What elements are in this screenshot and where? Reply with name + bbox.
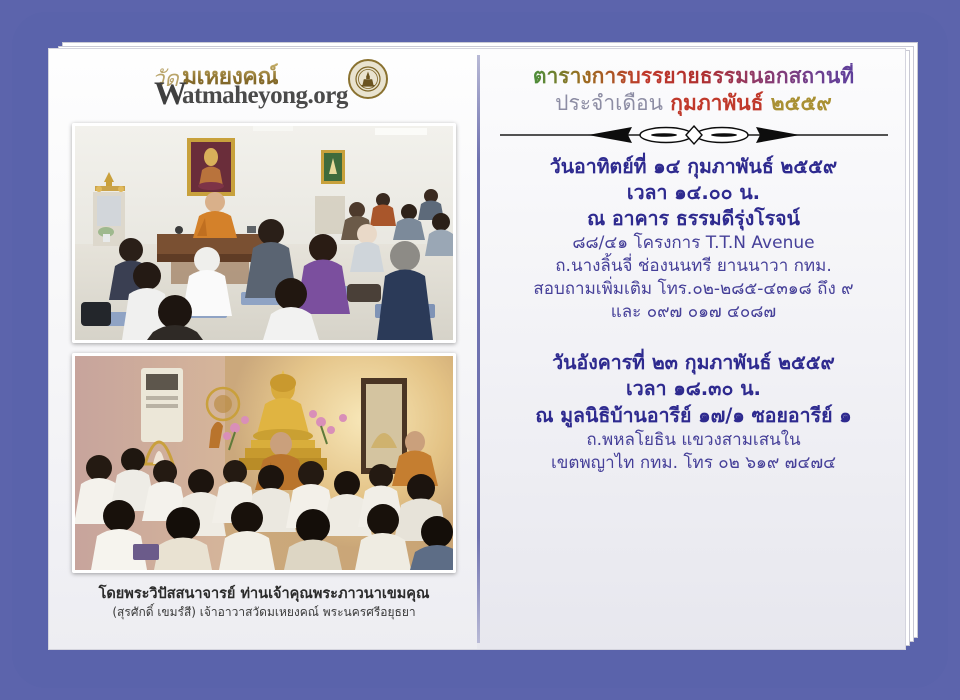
caption-teacher-detail: (สุรศักดิ์ เขมรํสี) เจ้าอาวาสวัดมเหยงคณ์… bbox=[61, 605, 467, 621]
watmaheyong-logo[interactable]: วัด มเหยงคณ์ W atmaheyong.org bbox=[152, 59, 412, 117]
event-contact-line2: และ ๐๙๗ ๐๑๗ ๔๐๘๗ bbox=[492, 301, 895, 324]
event-address-line2: เขตพญาไท กทม. โทร ๐๒ ๖๑๙ ๗๔๗๔ bbox=[492, 452, 895, 475]
page-title: ตารางการบรรยายธรรมนอกสถานที่ bbox=[492, 63, 895, 89]
event-date: วันอังคารที่ ๒๓ กุมภาพันธ์ ๒๕๕๙ bbox=[492, 350, 895, 376]
event-contact-line1: สอบถามเพิ่มเติม โทร.๐๒-๒๘๕-๔๓๑๘ ถึง ๙ bbox=[492, 278, 895, 301]
event-venue: ณ อาคาร ธรรมดีรุ่งโรจน์ bbox=[492, 206, 895, 232]
logo-website-url: atmaheyong.org bbox=[182, 83, 348, 108]
arrow-leaf-divider-icon bbox=[492, 122, 895, 148]
poster-card: วัด มเหยงคณ์ W atmaheyong.org bbox=[48, 48, 906, 650]
dhamma-talk-meditation-hall-photo bbox=[72, 123, 456, 343]
temple-ceremony-golden-buddha-photo bbox=[72, 353, 456, 573]
temple-stupa-seal-icon bbox=[348, 59, 388, 99]
subtitle-prefix: ประจำเดือน bbox=[555, 91, 663, 115]
event-date: วันอาทิตย์ที่ ๑๔ กุมภาพันธ์ ๒๕๕๙ bbox=[492, 154, 895, 180]
event-block: วันอาทิตย์ที่ ๑๔ กุมภาพันธ์ ๒๕๕๙ เวลา ๑๔… bbox=[492, 154, 895, 325]
event-time: เวลา ๑๘.๓๐ น. bbox=[492, 376, 895, 402]
photo-caption: โดยพระวิปัสสนาจารย์ ท่านเจ้าคุณพระภาวนาเ… bbox=[61, 585, 467, 621]
poster-root: วัด มเหยงคณ์ W atmaheyong.org bbox=[0, 0, 960, 700]
page-subtitle: ประจำเดือน กุมภาพันธ์ ๒๕๕๙ bbox=[492, 90, 895, 117]
subtitle-month: กุมภาพันธ์ bbox=[670, 91, 763, 115]
left-panel: วัด มเหยงคณ์ W atmaheyong.org bbox=[49, 49, 477, 649]
event-address-line2: ถ.นางลิ้นจี่ ช่องนนทรี ยานนาวา กทม. bbox=[492, 255, 895, 278]
event-block: วันอังคารที่ ๒๓ กุมภาพันธ์ ๒๕๕๙ เวลา ๑๘.… bbox=[492, 350, 895, 475]
event-venue: ณ มูลนิธิบ้านอารีย์ ๑๗/๑ ซอยอารีย์ ๑ bbox=[492, 403, 895, 429]
caption-teacher-title: โดยพระวิปัสสนาจารย์ ท่านเจ้าคุณพระภาวนาเ… bbox=[61, 585, 467, 603]
event-address-line1: ถ.พหลโยธิน แขวงสามเสนใน bbox=[492, 429, 895, 452]
right-panel: ตารางการบรรยายธรรมนอกสถานที่ ประจำเดือน … bbox=[480, 49, 905, 649]
event-time: เวลา ๑๔.๐๐ น. bbox=[492, 180, 895, 206]
subtitle-year: ๒๕๕๙ bbox=[771, 91, 832, 115]
event-spacer bbox=[492, 328, 895, 350]
event-address-line1: ๘๘/๔๑ โครงการ T.T.N Avenue bbox=[492, 232, 895, 255]
